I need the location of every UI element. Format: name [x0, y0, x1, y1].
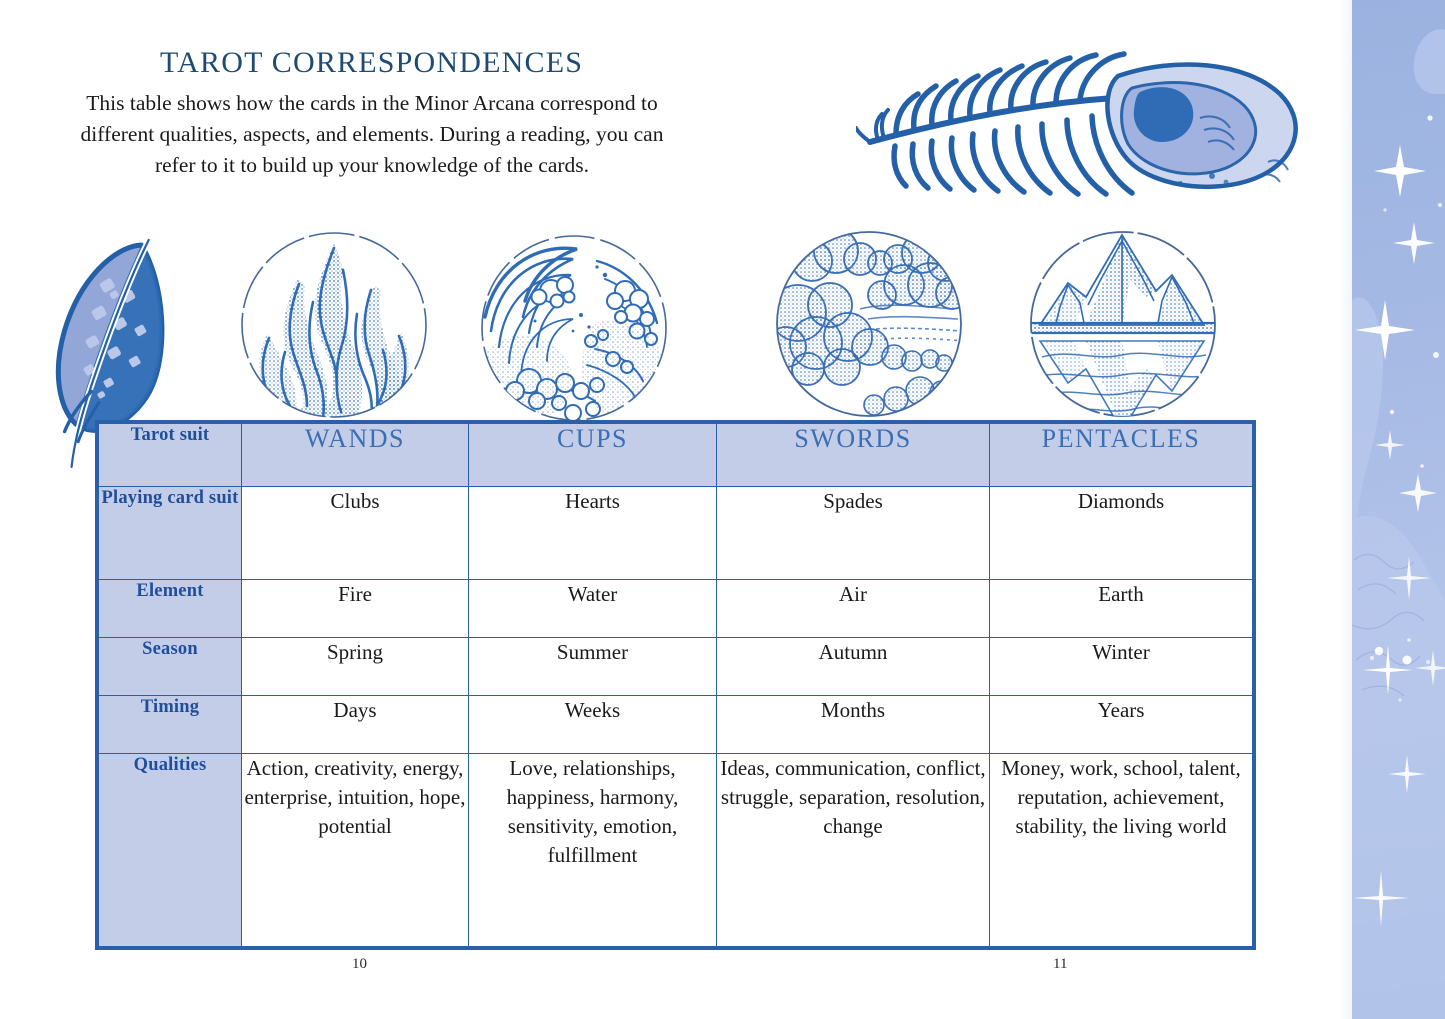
page-number-right: 11 [1053, 956, 1067, 973]
table-row: Season Spring Summer Autumn Winter [99, 638, 1253, 696]
table-row: Element Fire Water Air Earth [99, 580, 1253, 638]
cell-timing-wands: Days [242, 696, 469, 754]
fire-medallion [237, 228, 431, 422]
cell-playing-swords: Spades [717, 487, 990, 580]
cell-playing-pentacles: Diamonds [990, 487, 1253, 580]
panel-artwork [1352, 0, 1445, 1019]
cell-timing-swords: Months [717, 696, 990, 754]
column-header-cups: CUPS [469, 424, 717, 487]
cell-qualities-wands: Action, creativity, energy, enterprise, … [242, 754, 469, 947]
column-header-swords: SWORDS [717, 424, 990, 487]
cell-season-cups: Summer [469, 638, 717, 696]
intro-paragraph: This table shows how the cards in the Mi… [72, 88, 672, 181]
table-row: Playing card suit Clubs Hearts Spades Di… [99, 487, 1253, 580]
row-label-timing: Timing [99, 696, 242, 754]
page-title: TAROT CORRESPONDENCES [160, 46, 583, 80]
cell-element-swords: Air [717, 580, 990, 638]
air-medallion [772, 227, 966, 421]
tarot-correspondences-table: Tarot suit WANDS CUPS SWORDS PENTACLES P… [98, 423, 1253, 947]
cell-qualities-swords: Ideas, communication, conflict, struggle… [717, 754, 990, 947]
row-label-qualities: Qualities [99, 754, 242, 947]
cell-season-pentacles: Winter [990, 638, 1253, 696]
page-number-left: 10 [352, 956, 367, 973]
row-label-element: Element [99, 580, 242, 638]
column-header-wands: WANDS [242, 424, 469, 487]
cell-season-wands: Spring [242, 638, 469, 696]
row-label-tarot-suit: Tarot suit [99, 424, 242, 487]
table-row: Qualities Action, creativity, energy, en… [99, 754, 1253, 947]
earth-medallion [1026, 227, 1220, 421]
cell-qualities-pentacles: Money, work, school, talent, reputation,… [990, 754, 1253, 947]
cell-qualities-cups: Love, relationships, happiness, harmony,… [469, 754, 717, 947]
cell-element-wands: Fire [242, 580, 469, 638]
panel-white-edge [1325, 0, 1352, 1019]
column-header-pentacles: PENTACLES [990, 424, 1253, 487]
starry-gradient-panel [1352, 0, 1445, 1019]
table-row: Timing Days Weeks Months Years [99, 696, 1253, 754]
cell-element-pentacles: Earth [990, 580, 1253, 638]
cell-season-swords: Autumn [717, 638, 990, 696]
row-label-season: Season [99, 638, 242, 696]
cell-playing-cups: Hearts [469, 487, 717, 580]
cell-playing-wands: Clubs [242, 487, 469, 580]
cell-timing-cups: Weeks [469, 696, 717, 754]
row-label-playing-card-suit: Playing card suit [99, 487, 242, 580]
water-medallion [477, 231, 671, 425]
table-row-suit-header: Tarot suit WANDS CUPS SWORDS PENTACLES [99, 424, 1253, 487]
cell-element-cups: Water [469, 580, 717, 638]
peacock-feather [856, 36, 1306, 216]
cell-timing-pentacles: Years [990, 696, 1253, 754]
